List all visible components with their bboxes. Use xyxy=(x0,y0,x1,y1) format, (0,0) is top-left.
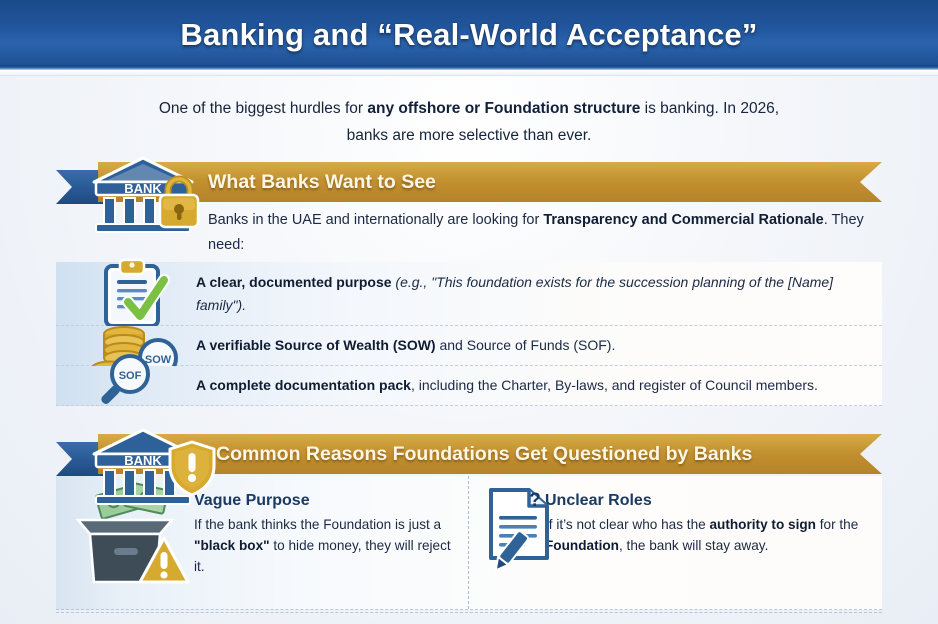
document-question-pen-icon: ? xyxy=(469,476,545,609)
requirements-list: A clear, documented purpose (e.g., "This… xyxy=(56,262,882,406)
list-item-text: A verifiable Source of Wealth (SOW) and … xyxy=(196,328,631,363)
page-title: Banking and “Real-World Acceptance” xyxy=(180,17,757,53)
list-item-rest: and Source of Funds (SOF). xyxy=(436,337,616,353)
list-item-text: A clear, documented purpose (e.g., "This… xyxy=(196,265,882,323)
list-item-bold: A complete documentation pack xyxy=(196,377,411,393)
card-desc-part1: If it’s not clear who has the xyxy=(545,517,709,532)
card-title: Vague Purpose xyxy=(194,492,456,510)
intro-line2: banks are more selective than ever. xyxy=(347,127,592,144)
bank-lock-icon: BANK xyxy=(88,156,208,236)
section-one-banner-title: What Banks Want to See xyxy=(208,171,436,194)
list-item-bold: A clear, documented purpose xyxy=(196,274,392,290)
section-one-body-emphasis: Transparency and Commercial Rationale xyxy=(543,212,823,228)
card-desc-part3: for the xyxy=(816,517,858,532)
section-two-banner-title: Common Reasons Foundations Get Questione… xyxy=(216,443,752,466)
bottom-divider xyxy=(56,612,882,613)
intro-line1-part3: is banking. In 2026, xyxy=(640,100,779,117)
card-text: Vague Purpose If the bank thinks the Fou… xyxy=(194,476,468,609)
intro-paragraph: One of the biggest hurdles for any offsh… xyxy=(110,95,828,149)
list-item: A clear, documented purpose (e.g., "This… xyxy=(56,262,882,326)
svg-text:?: ? xyxy=(529,490,541,511)
svg-text:BANK: BANK xyxy=(124,453,162,468)
card-unclear-roles: ? Unclear Roles If it’s not clear who ha… xyxy=(469,476,882,609)
card-description: If the bank thinks the Foundation is jus… xyxy=(194,514,456,577)
section-one-banner: What Banks Want to See BANK xyxy=(56,160,882,206)
page-header: Banking and “Real-World Acceptance” xyxy=(0,0,938,70)
card-desc-emphasis: "black box" xyxy=(194,538,270,553)
intro-line1-emphasis: any offshore or Foundation structure xyxy=(367,100,640,117)
list-item-bold: A verifiable Source of Wealth (SOW) xyxy=(196,337,436,353)
card-description: If it’s not clear who has the authority … xyxy=(545,514,870,556)
list-item-rest: , including the Charter, By-laws, and re… xyxy=(411,377,818,393)
card-desc-part5: , the bank will stay away. xyxy=(619,538,768,553)
svg-text:BANK: BANK xyxy=(124,181,162,196)
ribbon-bar: What Banks Want to See xyxy=(98,162,882,202)
card-text: Unclear Roles If it’s not clear who has … xyxy=(545,476,882,609)
section-two-banner: Common Reasons Foundations Get Questione… xyxy=(56,432,882,478)
list-item-text: A complete documentation pack, including… xyxy=(196,368,834,403)
coins-sof-magnifier-icon: SOF xyxy=(56,366,196,405)
header-underline xyxy=(0,70,938,76)
section-one-body: Banks in the UAE and internationally are… xyxy=(208,208,868,258)
card-desc-emphasis-authority: authority to sign xyxy=(709,517,815,532)
card-title: Unclear Roles xyxy=(545,492,870,510)
intro-line1-part1: One of the biggest hurdles for xyxy=(159,100,368,117)
svg-text:SOF: SOF xyxy=(119,370,142,382)
bank-warning-shield-icon: BANK xyxy=(88,428,218,508)
clipboard-check-icon xyxy=(56,262,196,325)
card-desc-part1: If the bank thinks the Foundation is jus… xyxy=(194,517,441,532)
list-item: SOF A complete documentation pack, inclu… xyxy=(56,366,882,406)
section-one-body-part1: Banks in the UAE and internationally are… xyxy=(208,212,543,228)
